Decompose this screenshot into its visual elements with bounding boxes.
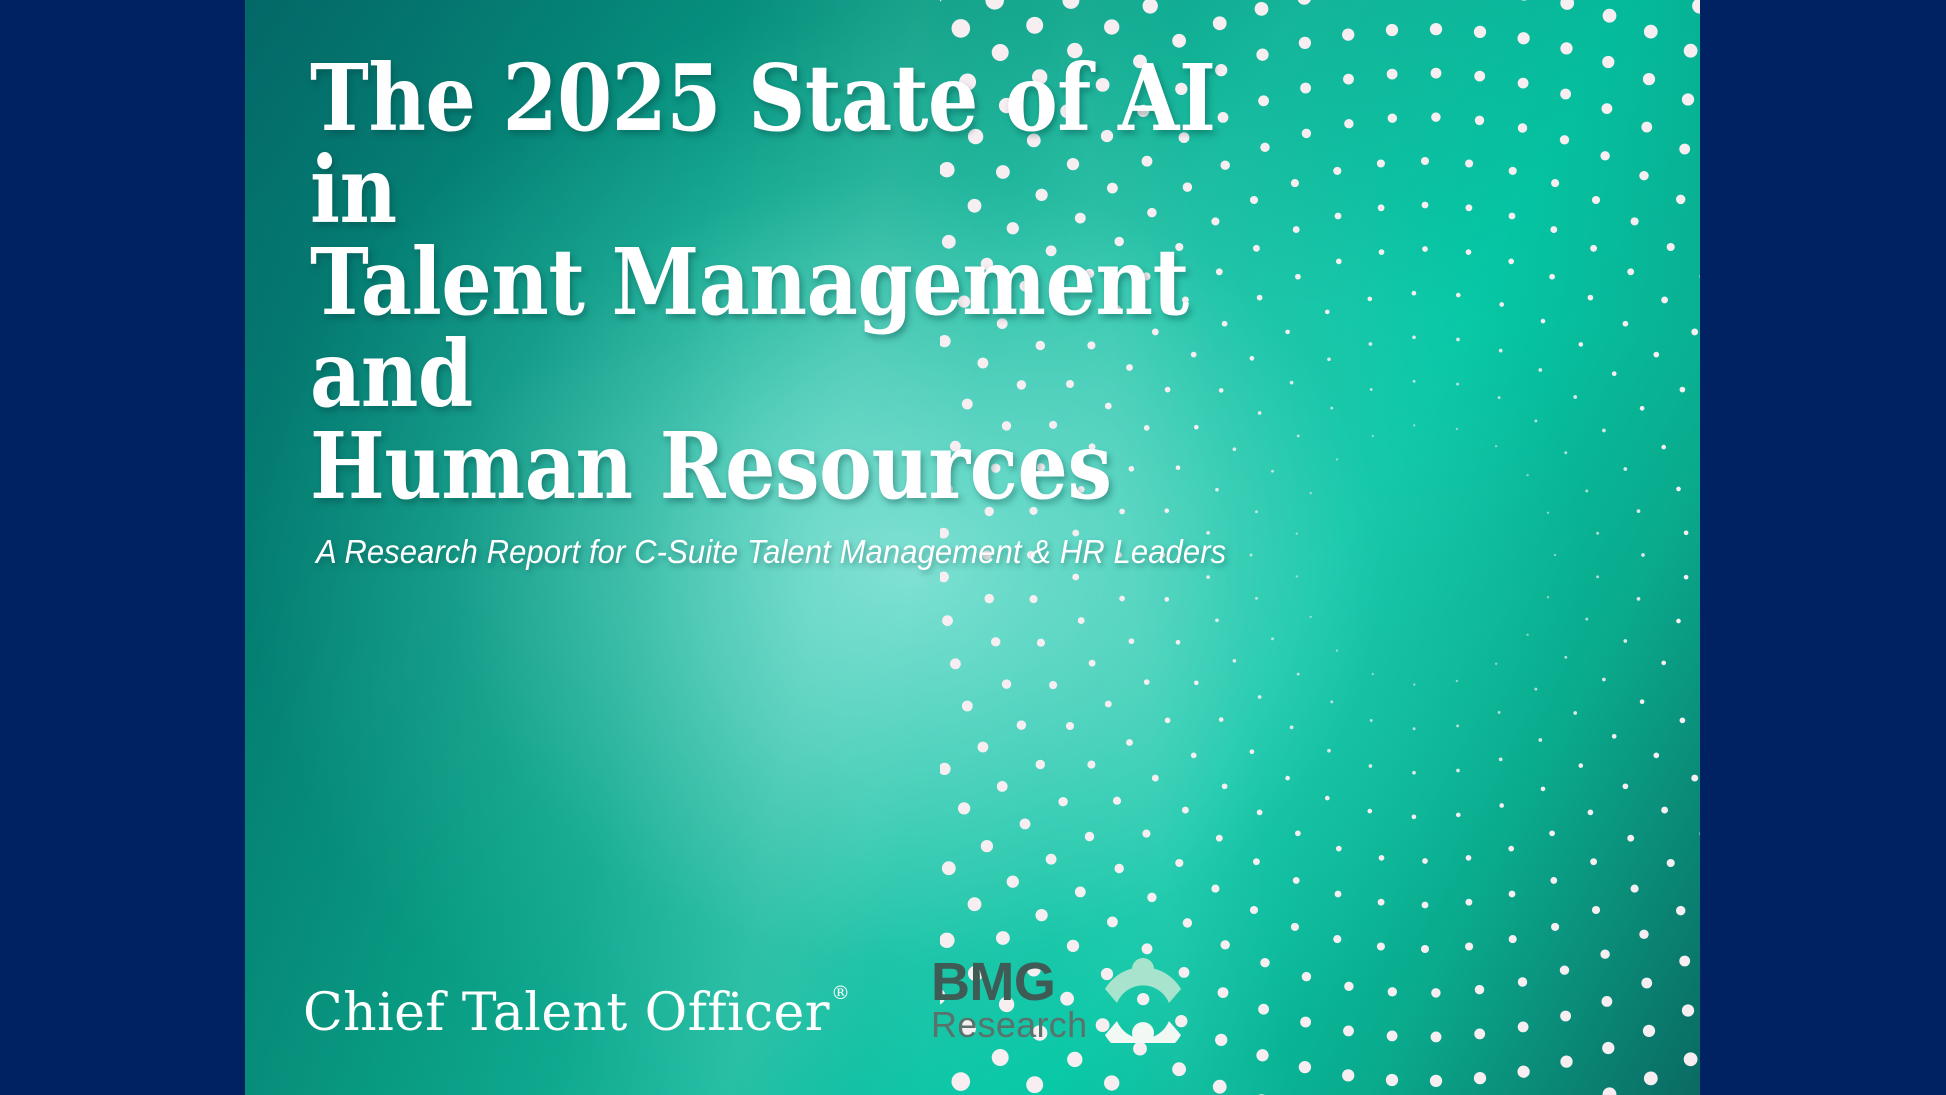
title-block: The 2025 State of AI in Talent Managemen… xyxy=(310,52,1430,570)
bmg-wordmark: BMG Research xyxy=(931,960,1087,1040)
bmg-name-text: BMG xyxy=(931,960,1087,1005)
bmg-arcs-icon xyxy=(1101,957,1185,1043)
chief-talent-officer-logo: Chief Talent Officer® xyxy=(303,987,849,1045)
bmg-tagline-text: Research xyxy=(931,1010,1087,1040)
screenshot-canvas: The 2025 State of AI in Talent Managemen… xyxy=(0,0,1946,1095)
cto-wordmark-text: Chief Talent Officer xyxy=(303,983,830,1043)
report-cover-slide: The 2025 State of AI in Talent Managemen… xyxy=(245,0,1700,1095)
page-subtitle: A Research Report for C-Suite Talent Man… xyxy=(316,534,1363,570)
registered-trademark-icon: ® xyxy=(831,982,850,1004)
footer-logos: Chief Talent Officer® BMG Research xyxy=(303,957,1185,1045)
bmg-research-logo: BMG Research xyxy=(931,957,1185,1045)
page-title: The 2025 State of AI in Talent Managemen… xyxy=(310,52,1273,512)
